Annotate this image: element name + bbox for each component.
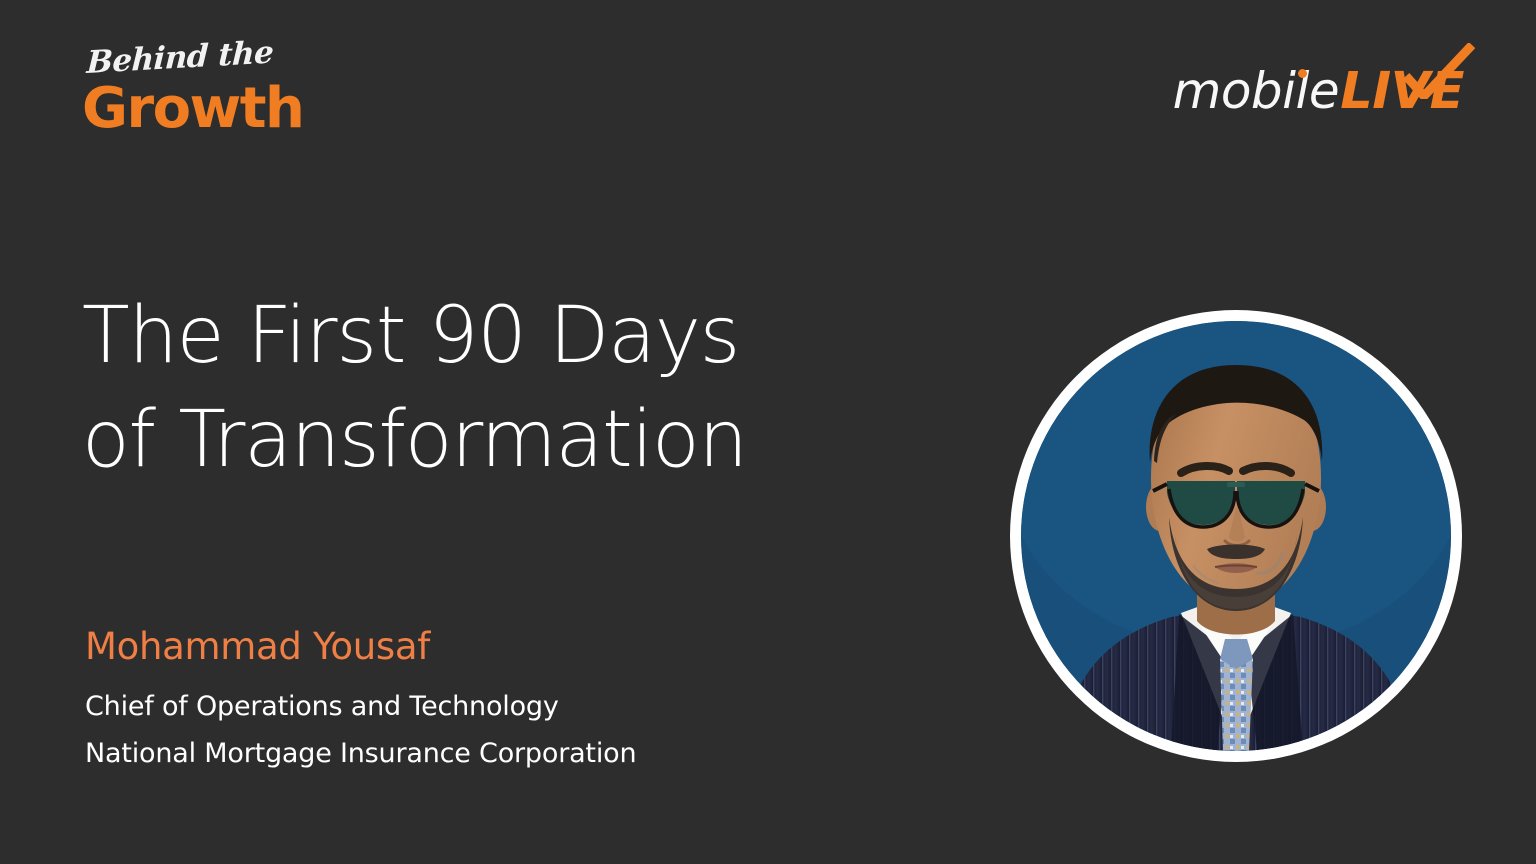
title-slide: Behind the Growth mobile LIVE The First …	[0, 0, 1536, 864]
slide-title-line-2: of Transformation	[82, 389, 842, 493]
behind-the-growth-wordmark: Growth	[82, 81, 303, 137]
slide-title: The First 90 Days of Transformation	[82, 285, 842, 492]
speaker-portrait-photo	[1021, 321, 1451, 751]
speaker-role: Chief of Operations and Technology	[85, 684, 845, 731]
mobilelive-bold-wrap: LIVE	[1340, 62, 1464, 121]
speaker-name: Mohammad Yousaf	[85, 622, 845, 672]
behind-the-growth-script-text: Behind the	[86, 37, 274, 79]
speaker-organization: National Mortgage Insurance Corporation	[85, 731, 845, 778]
mobilelive-light-label: mobile	[1173, 62, 1340, 120]
behind-the-growth-logo: Behind the Growth	[82, 48, 362, 148]
speaker-block: Mohammad Yousaf Chief of Operations and …	[85, 622, 845, 778]
portrait-illustration	[1021, 321, 1451, 751]
mobilelive-logo: mobile LIVE	[1173, 62, 1464, 124]
speaker-portrait	[1010, 310, 1462, 762]
slide-title-line-1: The First 90 Days	[82, 285, 842, 389]
mobilelive-bold-text: LIVE	[1340, 62, 1464, 121]
mobilelive-light-text: mobile	[1173, 62, 1340, 120]
